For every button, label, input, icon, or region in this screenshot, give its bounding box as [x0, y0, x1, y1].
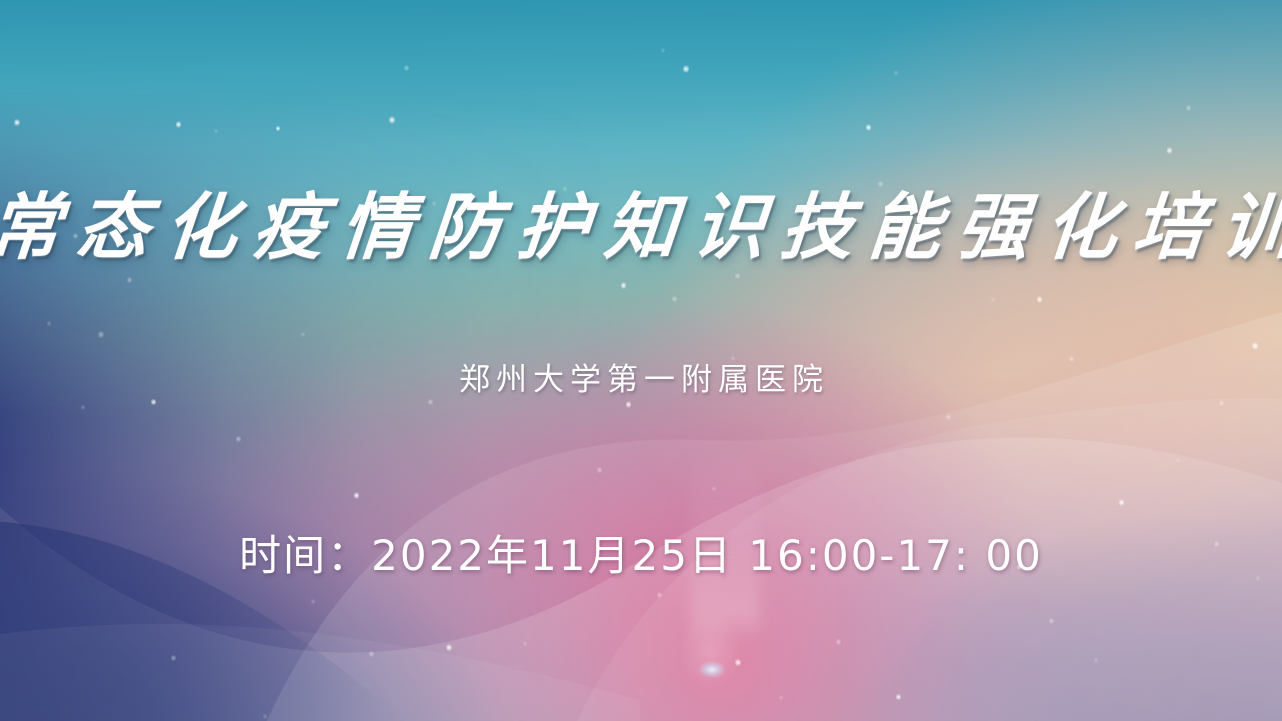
poster-content: 常态化疫情防护知识技能强化培训 郑州大学第一附属医院 时间：2022年11月25…: [0, 0, 1282, 721]
poster-title: 常态化疫情防护知识技能强化培训: [0, 178, 1282, 278]
poster-time: 时间：2022年11月25日 16:00-17: 00: [0, 524, 1282, 580]
poster-title-text: 常态化疫情防护知识技能强化培训: [0, 192, 1282, 264]
poster-subtitle-text: 郑州大学第一附属医院: [453, 354, 829, 399]
poster-slide: 常态化疫情防护知识技能强化培训 郑州大学第一附属医院 时间：2022年11月25…: [0, 0, 1282, 721]
poster-time-text: 时间：2022年11月25日 16:00-17: 00: [239, 522, 1043, 583]
poster-subtitle: 郑州大学第一附属医院: [0, 352, 1282, 400]
